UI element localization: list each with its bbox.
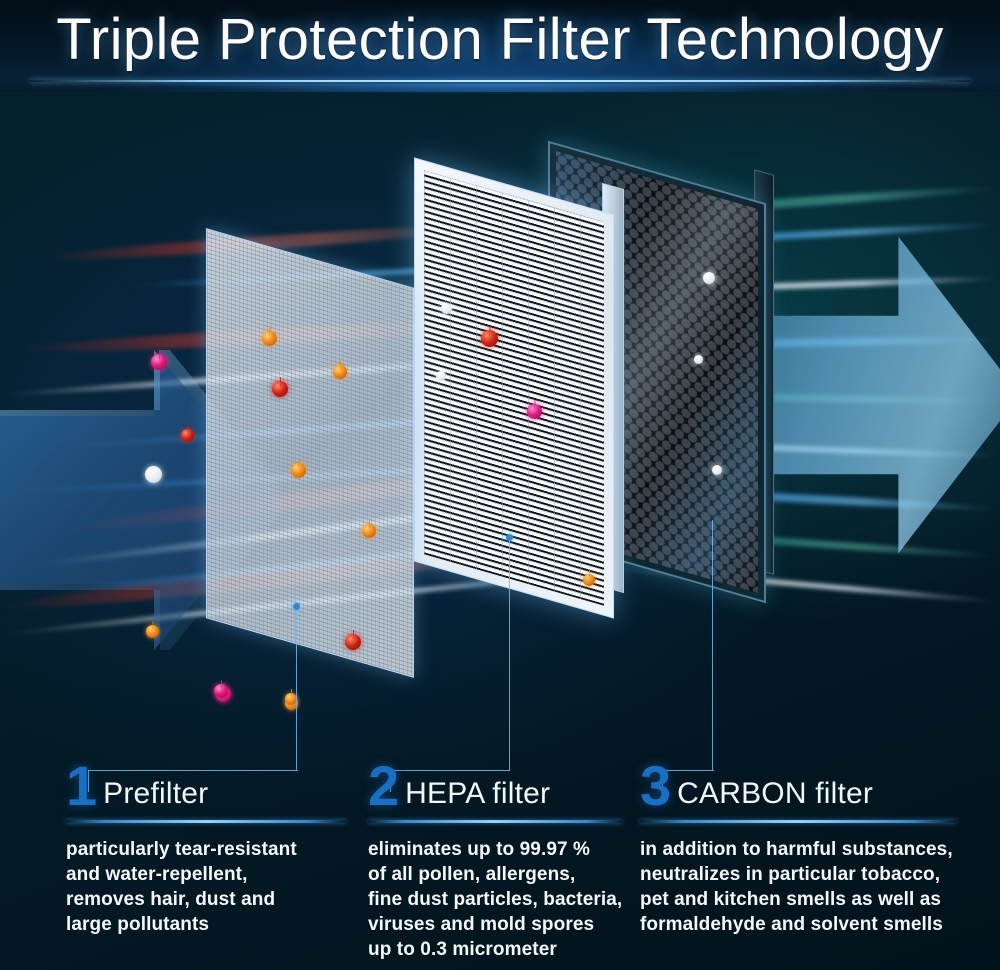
- particle-dust: [694, 355, 703, 364]
- particle-dust: [703, 272, 715, 284]
- legend-description-carbon: in addition to harmful substances, neutr…: [640, 837, 960, 937]
- particle-pollen: [362, 524, 376, 538]
- legend-underline-hepa: [368, 820, 622, 823]
- particle-virus: [527, 404, 542, 419]
- legend-heading-hepa: 2 HEPA filter: [368, 756, 628, 812]
- connector-line-prefilter-vertical: [296, 610, 297, 770]
- particle-dust: [436, 371, 446, 381]
- particle-pollen: [262, 331, 277, 346]
- particle-spikes: [341, 630, 365, 654]
- legend-line: pet and kitchen smells as well as: [640, 887, 960, 912]
- legend-item-carbon: 3 CARBON filter in addition to harmful s…: [640, 756, 960, 937]
- legend-line: and water-repellent,: [66, 862, 351, 887]
- legend-line: formaldehyde and solvent smells: [640, 912, 960, 937]
- legend-item-hepa: 2 HEPA filter eliminates up to 99.97 % o…: [368, 756, 628, 962]
- legend-line: particularly tear-resistant: [66, 837, 351, 862]
- legend-line: fine dust particles, bacteria,: [368, 887, 628, 912]
- particle-spikes: [258, 327, 281, 350]
- legend-line: large pollutants: [66, 912, 351, 937]
- particle-spikes: [281, 689, 301, 709]
- particle-spikes: [177, 425, 198, 446]
- particle-spikes: [268, 377, 292, 401]
- particle-bacteria: [272, 381, 288, 397]
- hepa-filter-panel[interactable]: [414, 157, 614, 618]
- legend-number-3: 3: [640, 760, 671, 812]
- particle-spikes: [358, 520, 380, 542]
- particle-spikes: [477, 326, 502, 351]
- page-title: Triple Protection Filter Technology: [0, 6, 1000, 73]
- title-bar: Triple Protection Filter Technology: [0, 0, 1000, 92]
- legend-underline-prefilter: [66, 820, 346, 823]
- connector-line-hepa-vertical: [509, 540, 510, 770]
- legend-underline-carbon: [640, 820, 956, 823]
- legend-line: viruses and mold spores: [368, 912, 628, 937]
- legend-title-prefilter: Prefilter: [103, 778, 208, 813]
- particle-spikes: [142, 621, 163, 642]
- particle-pollen: [291, 463, 306, 478]
- prefilter-panel[interactable]: [206, 228, 414, 678]
- particle-bacteria: [345, 634, 361, 650]
- title-divider: [30, 80, 970, 82]
- legend-number-2: 2: [368, 760, 399, 812]
- legend-line: removes hair, dust and: [66, 887, 351, 912]
- legend-title-hepa: HEPA filter: [405, 778, 550, 813]
- particle-dust: [441, 303, 452, 314]
- legend: 1 Prefilter particularly tear-resistant …: [0, 756, 1000, 970]
- particle-spikes: [147, 350, 171, 374]
- particle-spikes: [523, 400, 546, 423]
- hepa-pleated-media: [424, 170, 604, 606]
- title-glow: [60, 84, 940, 110]
- legend-line: neutralizes in particular tobacco,: [640, 862, 960, 887]
- particle-virus: [151, 354, 167, 370]
- particle-pollen: [333, 365, 347, 379]
- legend-heading-prefilter: 1 Prefilter: [66, 756, 351, 812]
- particle-dust: [145, 466, 162, 483]
- legend-number-1: 1: [66, 760, 97, 812]
- infographic-canvas: Triple Protection Filter Technology 1 Pr…: [0, 0, 1000, 970]
- particle-pollen: [146, 625, 159, 638]
- legend-heading-carbon: 3 CARBON filter: [640, 756, 960, 812]
- legend-line: in addition to harmful substances,: [640, 837, 960, 862]
- connector-line-carbon-vertical: [712, 520, 713, 770]
- legend-title-carbon: CARBON filter: [677, 778, 873, 813]
- particle-spikes: [329, 361, 351, 383]
- connector-dot-prefilter: [293, 603, 300, 610]
- particle-spikes: [287, 459, 310, 482]
- particle-spikes: [210, 680, 232, 702]
- legend-description-hepa: eliminates up to 99.97 % of all pollen, …: [368, 837, 628, 962]
- legend-description-prefilter: particularly tear-resistant and water-re…: [66, 837, 351, 937]
- legend-line: up to 0.3 micrometer: [368, 937, 628, 962]
- particle-virus: [214, 684, 228, 698]
- particle-bacteria: [181, 429, 194, 442]
- legend-item-prefilter: 1 Prefilter particularly tear-resistant …: [66, 756, 351, 937]
- particle-pollen: [583, 574, 595, 586]
- particle-spikes: [579, 570, 599, 590]
- particle-bacteria: [481, 330, 498, 347]
- legend-line: of all pollen, allergens,: [368, 862, 628, 887]
- particle-dust: [712, 465, 722, 475]
- legend-line: eliminates up to 99.97 %: [368, 837, 628, 862]
